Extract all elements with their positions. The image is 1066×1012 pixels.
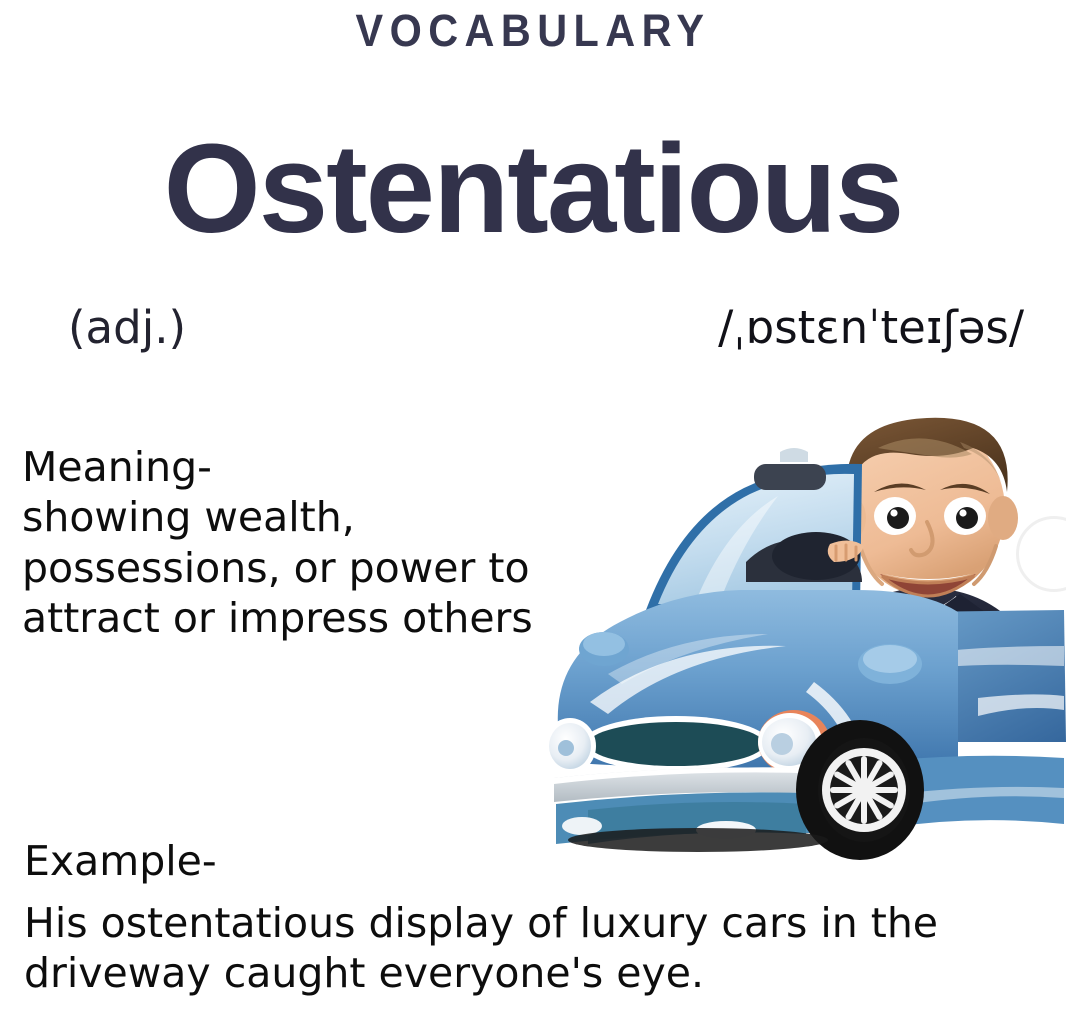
pronunciation-ipa: /ˌɒstɛnˈteɪʃəs/ (718, 305, 1024, 350)
meaning-section: Meaning- showing wealth, possessions, or… (22, 442, 602, 644)
meaning-text: showing wealth, possessions, or power to… (22, 492, 602, 643)
meaning-label: Meaning- (22, 442, 602, 492)
example-text: His ostentatious display of luxury cars … (24, 898, 1034, 998)
part-of-speech: (adj.) (68, 305, 186, 350)
headword: Ostentatious (5, 126, 1060, 252)
man-in-convertible-illustration (548, 406, 1066, 862)
card-kicker: VOCABULARY (43, 8, 1024, 53)
vocabulary-card: VOCABULARY Ostentatious (adj.) /ˌɒstɛnˈt… (0, 0, 1066, 1012)
